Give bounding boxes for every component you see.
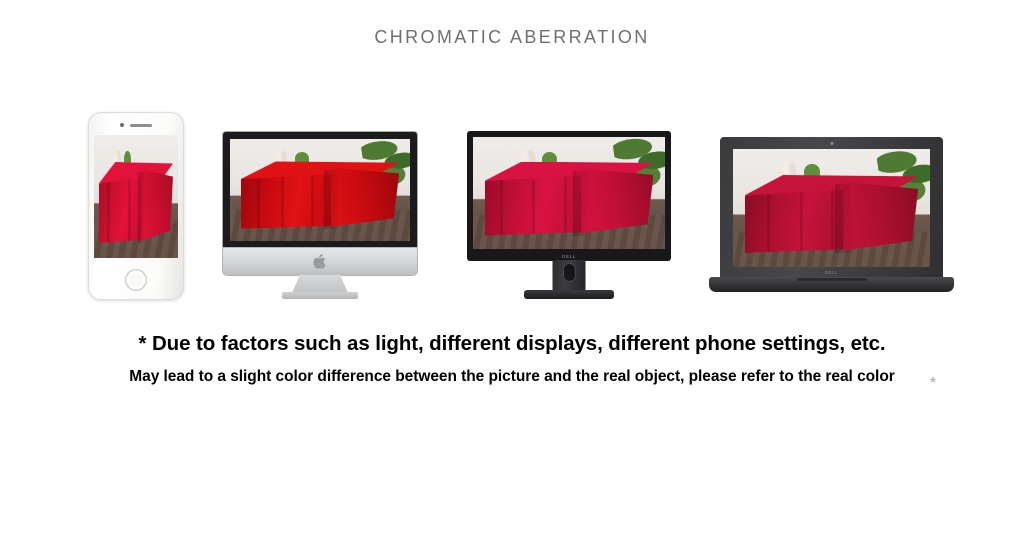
phone-screen bbox=[94, 135, 178, 258]
phone-camera-icon bbox=[120, 123, 124, 127]
scene-tablecloth-corner bbox=[324, 170, 340, 229]
laptop-brand-label: DELL bbox=[825, 270, 839, 275]
monitor-bezel: DELL bbox=[467, 131, 671, 261]
scene-tablecloth-side bbox=[581, 168, 654, 233]
phone-earpiece-icon bbox=[130, 124, 152, 127]
scene-cloth-fold bbox=[800, 189, 803, 253]
scene-cloth-fold bbox=[767, 189, 770, 253]
disclaimer-line-1: * Due to factors such as light, differen… bbox=[0, 330, 1024, 358]
monitor-screen bbox=[473, 137, 665, 249]
scene-cloth-fold bbox=[532, 175, 535, 235]
scene-tablecloth-side bbox=[331, 168, 399, 227]
device-smartphone bbox=[88, 112, 184, 300]
disclaimer-block: * Due to factors such as light, differen… bbox=[0, 330, 1024, 390]
scene-cloth-fold bbox=[128, 177, 131, 243]
laptop-front-lip bbox=[797, 278, 867, 281]
disclaimer-asterisk-mark: * bbox=[930, 374, 936, 391]
laptop-screen bbox=[733, 149, 930, 267]
scene-cloth-fold bbox=[564, 175, 567, 235]
tablecloth-scene bbox=[733, 149, 930, 267]
apple-logo-icon bbox=[314, 254, 327, 269]
laptop-lid: DELL bbox=[720, 137, 943, 277]
device-showcase-row: DELL bbox=[0, 100, 1024, 300]
laptop-webcam-icon bbox=[830, 142, 833, 145]
scene-cloth-fold bbox=[500, 175, 503, 235]
page-title: CHROMATIC ABERRATION bbox=[0, 27, 1024, 48]
scene-tablecloth-corner bbox=[138, 172, 146, 243]
phone-home-button bbox=[125, 269, 147, 291]
scene-cloth-fold bbox=[311, 174, 314, 229]
scene-tablecloth-corner bbox=[835, 184, 853, 252]
imac-screen bbox=[230, 139, 410, 241]
imac-stand-neck bbox=[292, 275, 348, 293]
scene-cloth-fold bbox=[107, 177, 110, 243]
monitor-brand-label: DELL bbox=[562, 254, 576, 259]
disclaimer-line-2: May lead to a slight color difference be… bbox=[0, 364, 1024, 390]
device-laptop: DELL bbox=[709, 125, 954, 300]
tablecloth-scene bbox=[94, 135, 178, 258]
laptop-base bbox=[709, 277, 954, 292]
imac-bezel bbox=[223, 132, 417, 248]
monitor-stand-neck bbox=[553, 260, 586, 291]
scene-tablecloth-side bbox=[843, 182, 918, 250]
imac-stand-foot bbox=[282, 292, 358, 299]
monitor-cable-hole-icon bbox=[564, 264, 575, 281]
scene-cloth-fold bbox=[831, 189, 834, 253]
device-desktop-all-in-one bbox=[223, 120, 417, 300]
monitor-stand-base bbox=[524, 290, 614, 299]
tablecloth-scene bbox=[230, 139, 410, 241]
scene-cloth-fold bbox=[281, 174, 284, 229]
scene-tablecloth-corner bbox=[573, 171, 590, 236]
scene-cloth-fold bbox=[257, 174, 260, 229]
scene-tablecloth-side bbox=[141, 169, 173, 240]
tablecloth-scene bbox=[473, 137, 665, 249]
device-desktop-monitor: DELL bbox=[467, 122, 671, 300]
